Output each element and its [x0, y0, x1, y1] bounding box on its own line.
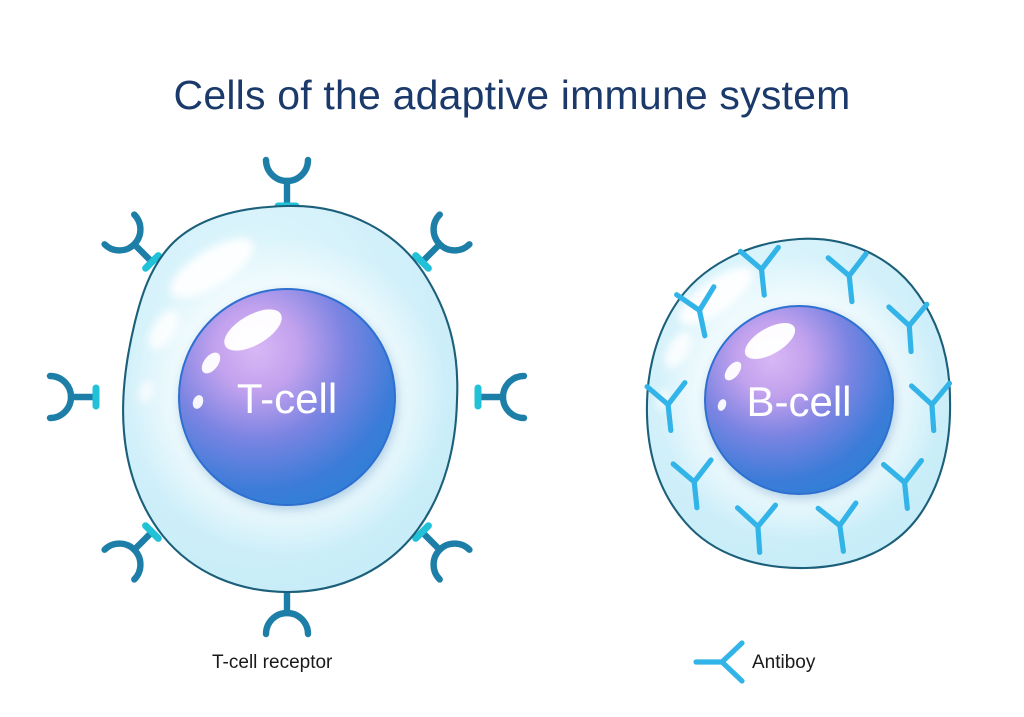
- t-cell-receptor[interactable]: [266, 160, 308, 206]
- t-cell-receptor[interactable]: [266, 588, 308, 634]
- b-cell-label: B-cell: [746, 378, 851, 425]
- t-cell-receptor[interactable]: [478, 376, 524, 418]
- b-cell[interactable]: B-cell: [647, 239, 953, 568]
- cells-diagram: T-cell: [0, 0, 1024, 717]
- t-cell[interactable]: T-cell: [50, 160, 524, 634]
- legend: [696, 643, 742, 681]
- t-cell-receptor[interactable]: [50, 376, 96, 418]
- t-cell-label: T-cell: [237, 375, 337, 422]
- legend-antibody-label: Antiboy: [752, 652, 815, 674]
- legend-t-cell-receptor-label: T-cell receptor: [212, 652, 332, 674]
- antibody-icon: [696, 643, 742, 681]
- illustration-canvas: Cells of the adaptive immune system: [0, 0, 1024, 717]
